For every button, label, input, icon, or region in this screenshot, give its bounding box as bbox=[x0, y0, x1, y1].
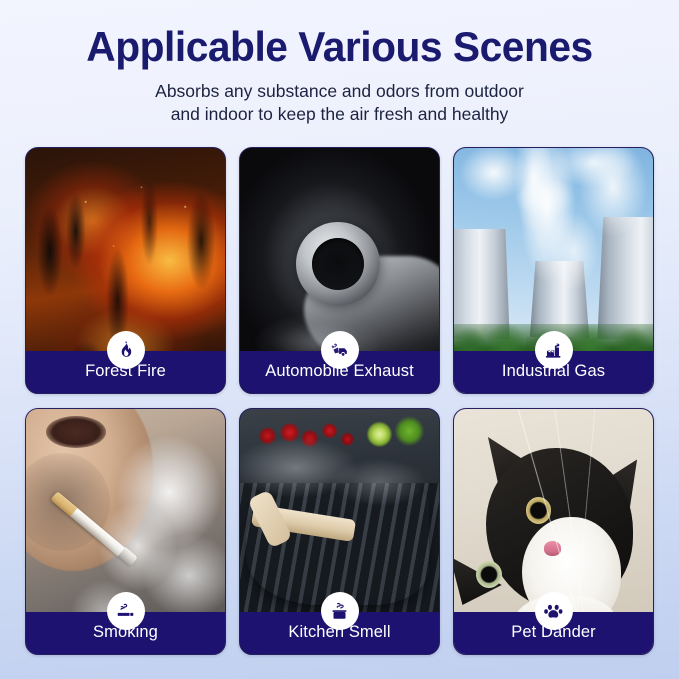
scene-card-kitchen-smell[interactable]: Kitchen Smell bbox=[239, 408, 440, 655]
scene-card-industrial-gas[interactable]: Industrial Gas bbox=[453, 147, 654, 394]
scene-card-smoking[interactable]: Smoking bbox=[25, 408, 226, 655]
paw-print-icon bbox=[535, 592, 573, 630]
header: Applicable Various Scenes Absorbs any su… bbox=[0, 0, 679, 126]
scene-grid: Forest Fire bbox=[25, 147, 654, 655]
page-title: Applicable Various Scenes bbox=[10, 22, 669, 72]
subtitle-line-1: Absorbs any substance and odors from out… bbox=[0, 80, 679, 103]
flame-icon bbox=[107, 331, 145, 369]
tailpipe-layer bbox=[296, 222, 380, 306]
cigarette-icon bbox=[107, 592, 145, 630]
infographic-page: Applicable Various Scenes Absorbs any su… bbox=[0, 0, 679, 679]
page-subtitle: Absorbs any substance and odors from out… bbox=[0, 80, 679, 126]
scene-card-pet-dander[interactable]: Pet Dander bbox=[453, 408, 654, 655]
steaming-pot-icon bbox=[321, 592, 359, 630]
car-exhaust-icon bbox=[321, 331, 359, 369]
scene-card-forest-fire[interactable]: Forest Fire bbox=[25, 147, 226, 394]
subtitle-line-2: and indoor to keep the air fresh and hea… bbox=[0, 103, 679, 126]
factory-smokestack-icon bbox=[535, 331, 573, 369]
scene-card-automobile-exhaust[interactable]: Automobile Exhaust bbox=[239, 147, 440, 394]
